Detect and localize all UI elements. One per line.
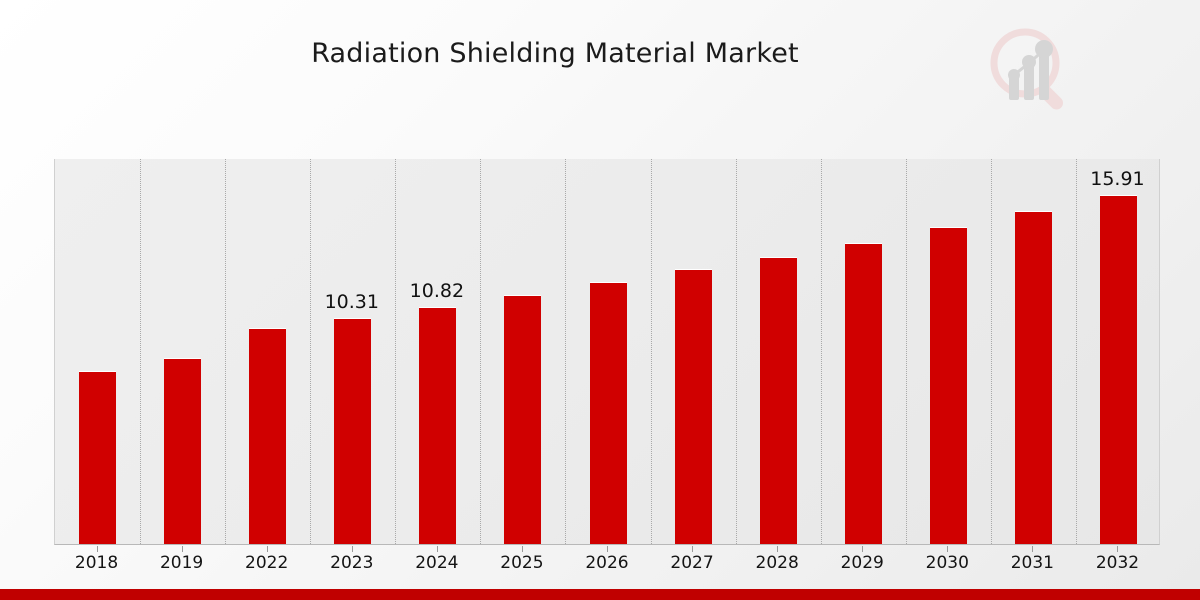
x-tick-mark-2022 xyxy=(267,546,268,552)
bar-value-label-2024: 10.82 xyxy=(392,280,482,302)
x-tick-mark-2024 xyxy=(437,546,438,552)
gridline xyxy=(480,159,481,544)
chart-canvas: Radiation Shielding Material Market Mark… xyxy=(0,0,1200,600)
bar-2029[interactable] xyxy=(845,243,882,544)
x-tick-mark-2028 xyxy=(777,546,778,552)
x-tick-mark-2018 xyxy=(97,546,98,552)
gridline xyxy=(310,159,311,544)
x-tick-mark-2032 xyxy=(1117,546,1118,552)
x-tick-label-2026: 2026 xyxy=(562,553,652,573)
x-tick-label-2030: 2030 xyxy=(902,553,992,573)
gridline xyxy=(140,159,141,544)
bar-2031[interactable] xyxy=(1015,211,1052,544)
x-tick-label-2029: 2029 xyxy=(817,553,907,573)
x-tick-label-2027: 2027 xyxy=(647,553,737,573)
x-tick-mark-2023 xyxy=(352,546,353,552)
bar-2019[interactable] xyxy=(164,358,201,544)
x-tick-label-2025: 2025 xyxy=(477,553,567,573)
gridline xyxy=(651,159,652,544)
x-tick-label-2022: 2022 xyxy=(222,553,312,573)
x-tick-label-2023: 2023 xyxy=(307,553,397,573)
gridline xyxy=(565,159,566,544)
x-tick-mark-2027 xyxy=(692,546,693,552)
x-tick-label-2032: 2032 xyxy=(1072,553,1162,573)
gridline xyxy=(1076,159,1077,544)
bar-2023[interactable] xyxy=(334,318,371,544)
x-tick-label-2024: 2024 xyxy=(392,553,482,573)
gridline xyxy=(395,159,396,544)
bar-2027[interactable] xyxy=(675,269,712,544)
x-tick-mark-2026 xyxy=(607,546,608,552)
bar-value-label-2032: 15.91 xyxy=(1072,168,1162,190)
x-tick-label-2018: 2018 xyxy=(52,553,142,573)
bar-value-label-2023: 10.31 xyxy=(307,291,397,313)
x-tick-mark-2025 xyxy=(522,546,523,552)
bar-2024[interactable] xyxy=(419,307,456,544)
gridline xyxy=(821,159,822,544)
x-tick-label-2031: 2031 xyxy=(987,553,1077,573)
x-tick-mark-2030 xyxy=(947,546,948,552)
gridline xyxy=(906,159,907,544)
x-tick-mark-2029 xyxy=(862,546,863,552)
gridline xyxy=(736,159,737,544)
x-tick-mark-2031 xyxy=(1032,546,1033,552)
x-tick-mark-2019 xyxy=(182,546,183,552)
gridline xyxy=(991,159,992,544)
bar-2025[interactable] xyxy=(504,295,541,544)
market-research-magnifier-logo xyxy=(978,18,1082,122)
x-tick-label-2019: 2019 xyxy=(137,553,227,573)
bar-2026[interactable] xyxy=(590,282,627,544)
chart-title: Radiation Shielding Material Market xyxy=(0,38,1110,69)
bar-2022[interactable] xyxy=(249,328,286,544)
plot-area xyxy=(54,159,1160,545)
x-tick-label-2028: 2028 xyxy=(732,553,822,573)
bar-2028[interactable] xyxy=(760,257,797,544)
bar-2018[interactable] xyxy=(79,371,116,544)
footer-accent-band xyxy=(0,589,1200,600)
bar-2032[interactable] xyxy=(1100,195,1137,544)
gridline xyxy=(225,159,226,544)
bar-2030[interactable] xyxy=(930,227,967,544)
